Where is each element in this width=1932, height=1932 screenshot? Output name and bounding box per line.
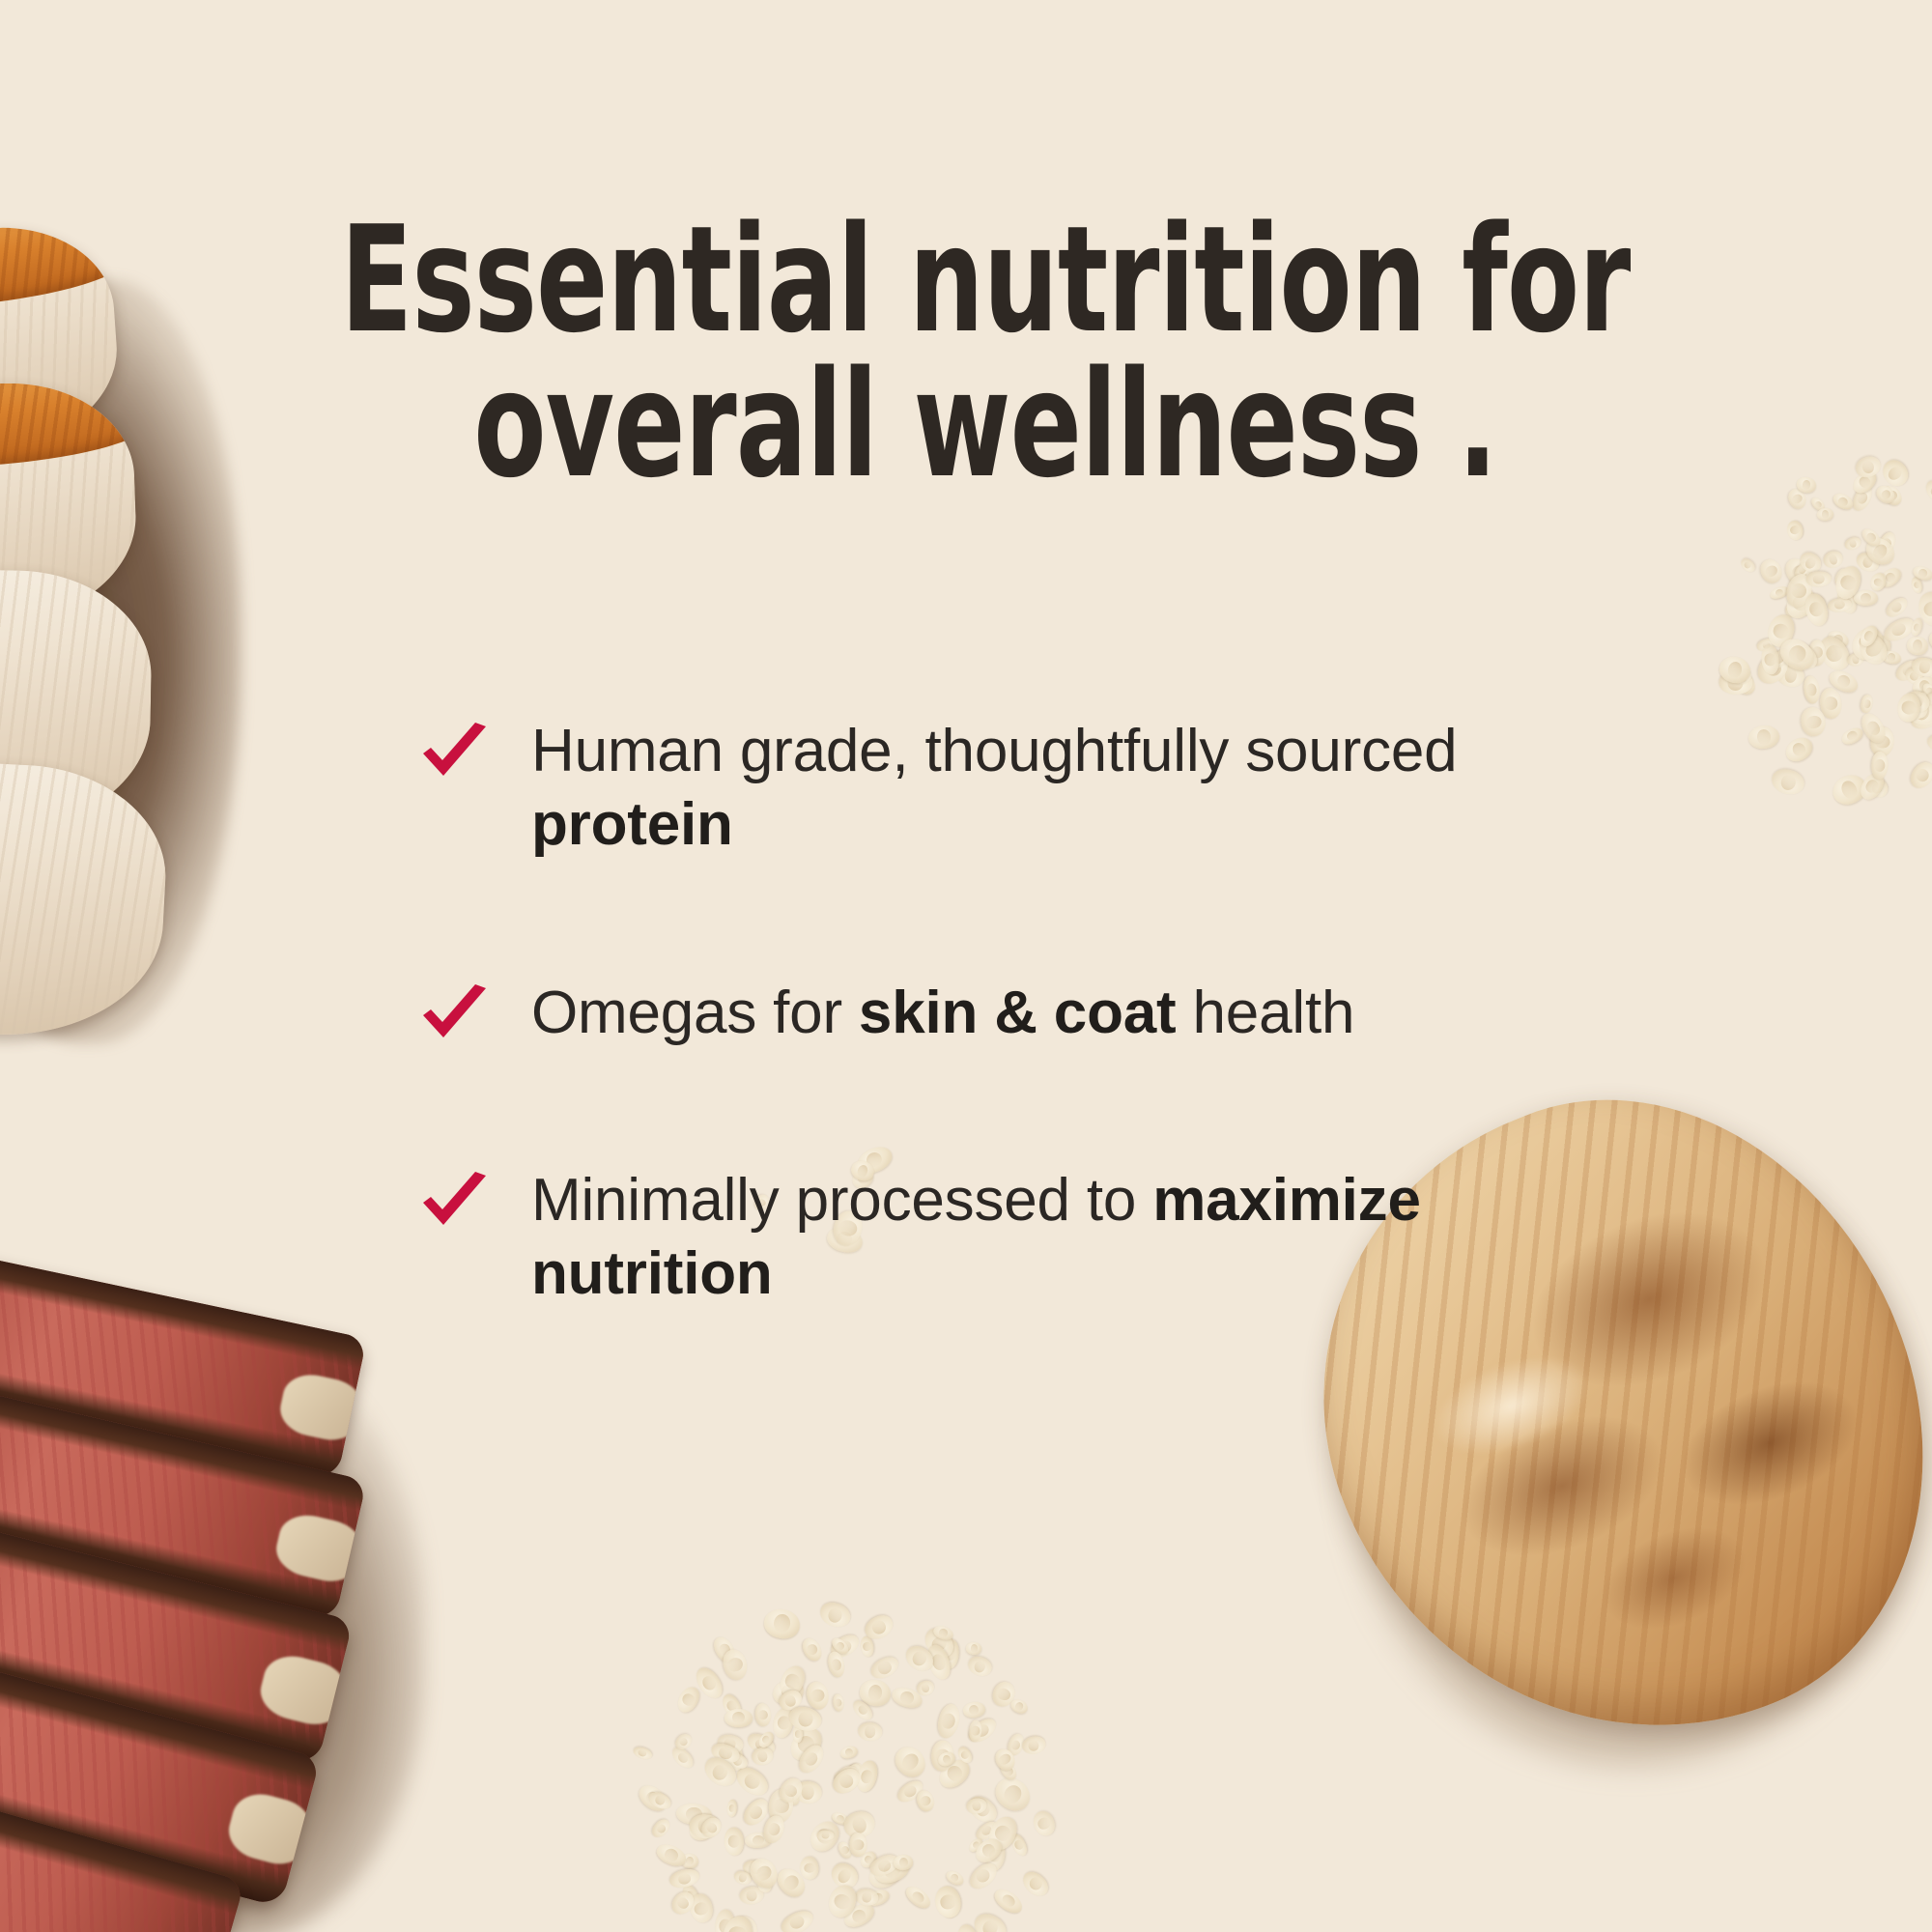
list-item-label: Omegas for skin & coat health [531,980,1354,1046]
oat-flake [754,1872,773,1894]
oat-flake [750,1746,775,1768]
oat-flake [1856,769,1888,804]
oat-flake [829,1764,865,1799]
turkey-slice [0,754,171,1043]
oat-flake [1911,656,1932,679]
oat-flake [724,1826,745,1856]
oat-flake [785,1721,828,1766]
oat-flake [795,1741,828,1777]
oat-flake [934,1754,975,1794]
oat-flake [685,1810,722,1846]
oat-flake [1821,549,1844,570]
beef-slice [0,1756,245,1932]
oat-flake [653,1840,689,1869]
oat-flake [1904,696,1932,727]
oat-flake [1906,636,1929,656]
oat-flake [867,1851,901,1880]
oat-flake [931,1884,963,1920]
oat-flake [973,1818,1001,1844]
oat-flake [1726,666,1760,699]
oat-flake [967,1835,984,1854]
oat-flake [860,1635,875,1658]
oat-flake [895,1776,926,1805]
chicken-highlight [1420,1337,1605,1475]
oat-flake [793,1781,822,1804]
oat-flake [709,1741,742,1766]
oat-flake [1829,770,1871,810]
oat-flake [710,1634,739,1665]
oat-flake [1912,690,1929,711]
oat-flake [1850,483,1876,514]
oat-flake [858,1849,879,1871]
oat-flake [1857,709,1889,747]
oat-flake [1782,598,1805,622]
oat-flake [1801,590,1831,628]
oat-flake [832,1693,844,1712]
oat-flake [1809,495,1828,513]
oat-flake [1785,520,1804,542]
oat-flake [1846,622,1889,666]
oat-flake [934,1702,962,1741]
bullet-lead: Human grade, thoughtfully sourced [531,718,1457,784]
oat-flake [1776,663,1805,689]
oat-flake [1844,536,1863,553]
oat-flake [806,1816,844,1857]
oat-flake [715,1910,735,1932]
oat-flake [739,1795,773,1831]
oat-flake [1808,639,1826,666]
oat-flake [1009,1697,1030,1717]
oat-flake [762,1607,802,1641]
oat-flake [1785,486,1809,512]
oat-flake [832,1769,856,1794]
oat-flake [865,1855,906,1893]
oat-flake [1921,477,1932,506]
oat-flake [1870,752,1888,781]
oat-flake [1868,571,1889,593]
oat-flake [864,1887,892,1909]
oat-flake [1873,483,1898,507]
oat-flake [1854,590,1878,606]
oat-flake [1862,631,1895,665]
oat-flake [854,1889,879,1907]
oat-flake [1822,642,1839,662]
oat-flake [1769,766,1806,798]
oat-flake [1030,1808,1059,1839]
oat-flake [1883,594,1911,621]
oat-flake [870,1853,913,1889]
oat-flake [761,1813,787,1845]
oat-flake [849,1833,867,1858]
list-item-label: Minimally processed to maximize nutritio… [531,1167,1421,1307]
oat-flake [984,1840,1007,1872]
oat-flake [733,1869,753,1887]
oat-flake [1869,725,1895,757]
oat-flake [1839,725,1865,748]
oat-flake [827,1859,863,1892]
oat-flake [969,1909,1010,1932]
check-icon [417,982,491,1056]
oat-flake [646,1788,674,1811]
oat-flake [1925,627,1932,658]
oat-flake [731,1762,772,1800]
oat-flake [650,1816,673,1840]
oat-flake [709,1757,730,1782]
oat-flake [1776,661,1789,682]
oat-flake [1779,553,1818,592]
turkey-shadow [0,280,241,1043]
oat-flake [1898,692,1931,723]
oat-flake [1739,556,1757,575]
beef-slice [0,1235,367,1481]
oat-flake [966,1642,981,1655]
oat-flake [1875,529,1897,557]
oat-flake [698,1814,725,1841]
oat-flake [1019,1867,1053,1900]
oat-flake [902,1883,934,1912]
oat-flake [915,1678,936,1697]
oat-flake [984,1813,1022,1855]
oat-flake [890,1685,924,1711]
headline-line-2: overall wellness . [251,353,1719,497]
oat-flake [1846,650,1865,668]
oat-flake [838,1744,859,1760]
oat-flake [1817,507,1834,521]
oat-flake [721,1915,755,1932]
oat-flake [771,1705,797,1740]
oat-flake [719,1911,763,1932]
oat-flake [720,1739,746,1773]
oat-flake [1925,692,1932,708]
oat-flake [965,1715,1000,1747]
oat-flake [1833,586,1860,617]
check-icon [417,1170,491,1243]
oat-flake [1802,674,1821,704]
oat-flake [1767,646,1793,673]
oat-flake [1831,491,1856,513]
oat-flake [1850,467,1881,497]
oat-flake [745,1832,773,1849]
oat-flake [739,1885,765,1905]
oat-flake [1907,697,1932,734]
oat-flake [792,1725,803,1743]
oat-flake [804,1679,832,1711]
oat-flake [754,1702,773,1726]
oat-flake [787,1704,824,1735]
oat-flake [998,1760,1020,1783]
oat-flake [941,1638,961,1670]
oat-flake [840,1808,878,1842]
bullet-lead: Omegas for [531,980,859,1046]
oat-flake [672,1731,694,1752]
beef-slice [0,1494,354,1766]
oat-flake [1782,571,1814,610]
oat-flake [745,1853,782,1892]
oat-flake [674,1683,703,1716]
oat-flake [893,1854,914,1871]
oat-flake [824,1882,859,1921]
list-item: Omegas for skin & coat health [417,977,1461,1050]
oat-flake [831,1810,850,1826]
beef-slice [0,1363,367,1622]
oat-flake [962,1701,986,1719]
oat-flake [1880,613,1918,646]
oat-flake [858,1678,893,1709]
oat-flake [954,1922,981,1932]
oat-flake [1892,657,1922,685]
oat-flake [964,1792,1002,1828]
oat-flake [1796,475,1817,493]
oat-flake [691,1663,726,1702]
oat-flake [829,1635,851,1657]
oat-flake [831,1761,865,1796]
oat-flake [1784,638,1822,674]
oat-flake [1798,594,1827,616]
oat-flake [1813,631,1855,675]
oat-flake [1910,577,1923,595]
list-item-label: Human grade, thoughtfully sourced protei… [531,718,1457,858]
oat-flake [1781,582,1820,623]
oat-flake [769,1676,807,1709]
turkey-slice [0,379,139,631]
oat-flake [901,1641,938,1676]
oat-flake [744,1730,778,1758]
oat-flake [966,1654,995,1679]
oat-flake [932,1624,955,1642]
oat-flake [724,1708,753,1726]
oat-flake [826,1650,847,1679]
oat-flake [845,1762,866,1785]
oat-flake [632,1745,654,1761]
oat-flake [1769,584,1791,602]
oat-flake [817,1600,854,1632]
oat-flake [690,1813,721,1837]
oat-flake [923,1641,954,1682]
benefits-list: Human grade, thoughtfully sourced protei… [417,715,1461,1311]
oat-flake [990,1773,1037,1817]
oat-flake [798,1635,825,1664]
oat-flake [1880,482,1906,508]
oat-flake [1747,724,1781,751]
oat-flake [1825,628,1850,650]
oat-flake [1855,551,1882,575]
oat-flake [716,1733,745,1755]
oat-flake [955,1745,975,1765]
oat-flake [1732,668,1753,688]
oat-flake [699,1752,741,1792]
beef-shadow [10,1343,425,1932]
bullet-emphasis: protein [531,791,733,858]
oat-flake [1853,453,1884,481]
oat-flake [1915,588,1932,628]
oat-flake [1020,1735,1047,1756]
oat-flake [687,1891,716,1925]
oat-flake [1881,650,1902,666]
oat-flake [679,1882,703,1912]
oat-flake [854,1759,880,1794]
oat-flake [668,1745,696,1773]
oat-flake [841,1761,865,1787]
oat-flake [1799,705,1829,739]
oat-flake [1861,533,1899,570]
oat-flake [965,1797,988,1815]
oat-flake [1756,555,1786,587]
oat-flake [862,1610,897,1643]
oat-flake [827,1631,862,1662]
oat-flake [930,1740,953,1771]
oat-flake [778,1906,816,1932]
oat-flake [1833,563,1865,603]
oat-flake [992,1746,1019,1774]
turkey-slice [0,220,124,462]
oat-flake [817,1830,835,1840]
oat-flake [989,1679,1018,1710]
oat-flake [1861,694,1874,714]
oat-flake [635,1780,671,1815]
oat-flake [1718,654,1753,686]
oat-flake [1911,674,1932,698]
oat-flake [1793,561,1812,581]
oat-flake [779,1787,801,1807]
bullet-emphasis: skin & coat [859,980,1177,1046]
oat-flake [1765,611,1799,650]
oat-flake [915,1787,938,1813]
oat-flake [857,1721,882,1742]
oat-flake [991,1885,1026,1917]
bullet-lead: Minimally processed to [531,1167,1152,1234]
oat-flake [1827,596,1853,613]
page-title: Essential nutrition for overall wellness… [251,208,1719,498]
oat-flake [1827,667,1861,696]
oat-flake [767,1787,795,1824]
oat-flake [725,1750,750,1772]
oat-flake [1859,526,1883,551]
oat-flake [1923,654,1932,687]
beef-steak-image [0,1275,493,1932]
oat-flake [890,1741,931,1782]
oat-flake [936,1749,957,1769]
oat-flake [1911,564,1932,582]
oat-flake [1760,644,1780,676]
oat-flake [1775,633,1820,676]
oat-flake [1818,687,1843,721]
oat-flake [776,1662,809,1700]
oat-flake [1832,566,1852,589]
oat-flake [1854,630,1892,670]
oat-flake [840,1900,877,1932]
oat-flake [1781,732,1816,765]
oat-flake [1006,1732,1027,1758]
oat-flake [1907,758,1932,792]
oat-flake [1719,670,1753,694]
oat-flake [1920,598,1932,623]
oat-flake [720,1691,745,1720]
oat-flake [1858,623,1881,649]
oat-flake [726,1800,737,1817]
oat-flake [1755,637,1776,653]
oat-flake [1009,1832,1031,1859]
oat-flake [1877,455,1912,491]
oat-flake [944,1868,965,1888]
oat-flake [836,1839,854,1860]
oat-flake [849,1697,875,1723]
oat-flake [668,1888,697,1918]
oat-flake [1926,731,1932,757]
beef-slice [0,1628,321,1907]
oat-flake [680,1853,698,1868]
promo-banner: Essential nutrition for overall wellness… [0,0,1932,1932]
oat-flake [943,1899,958,1918]
oat-flake [798,1855,820,1881]
oat-flake [742,1859,770,1879]
oat-flake [1752,646,1794,690]
oat-flake [776,1774,808,1807]
list-item: Minimally processed to maximize nutritio… [417,1164,1461,1312]
oat-flake [668,1866,700,1890]
headline-line-1: Essential nutrition for [251,208,1719,353]
oat-flake [719,1646,750,1682]
oat-flake [1797,549,1825,576]
turkey-breast-image [0,222,270,1063]
oat-flake [1903,666,1926,687]
oat-flake [1863,774,1891,801]
oat-flake [920,1624,958,1662]
turkey-slice [0,567,153,834]
oat-flake [1896,692,1922,724]
oat-flake [966,1859,1002,1894]
oat-flake [1877,564,1904,590]
list-item: Human grade, thoughtfully sourced protei… [417,715,1461,863]
oat-flake [972,1833,1007,1867]
oat-flake [776,1687,806,1715]
check-icon [417,721,491,794]
oat-flake [969,1719,983,1742]
oat-flakes-bottom-center [560,1488,1024,1932]
oat-flake [1805,571,1832,587]
oat-flake [1910,616,1924,637]
oat-flake [1920,681,1932,701]
oat-flake [867,1653,901,1683]
oat-flake [772,1863,810,1902]
oat-flake [675,1803,712,1827]
oat-flake [756,1729,776,1749]
bullet-trail: health [1177,980,1355,1046]
oat-flake [1902,688,1932,715]
